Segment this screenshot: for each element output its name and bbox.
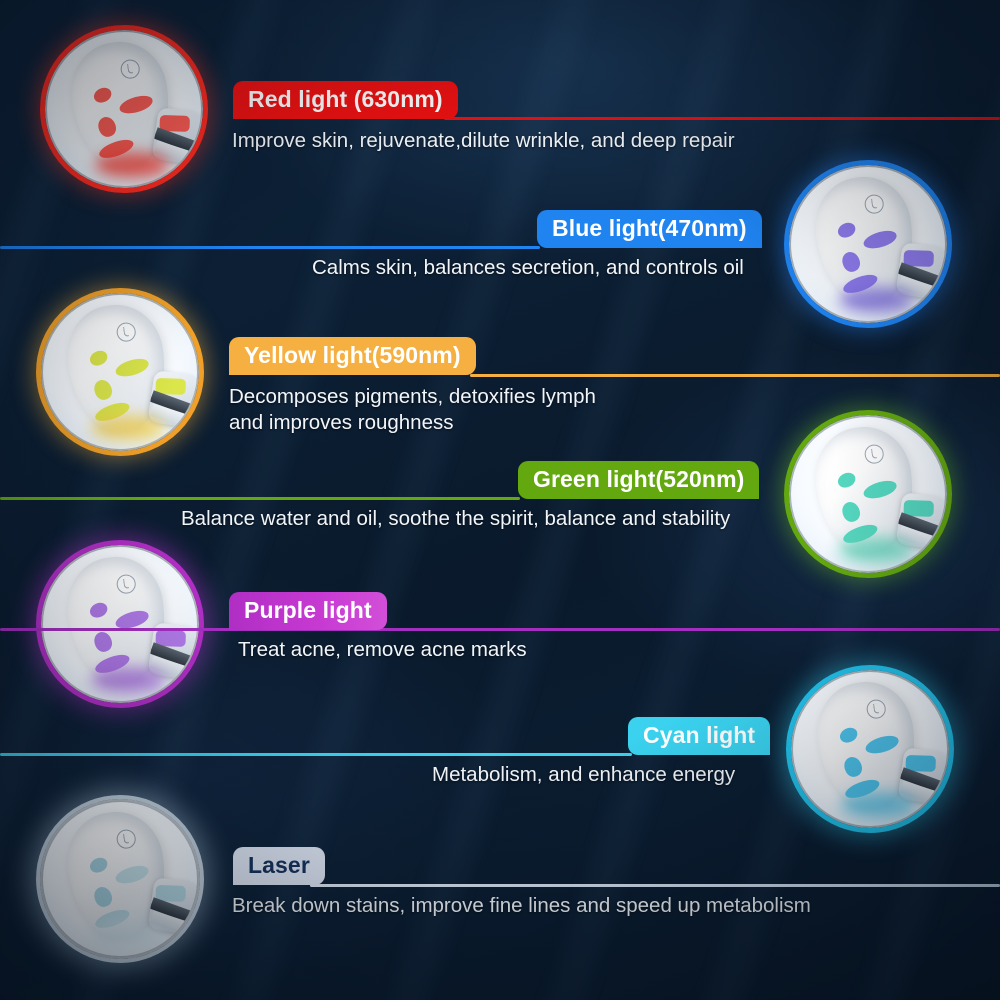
led-aperture bbox=[841, 754, 864, 779]
label-pill-yellow: Yellow light(590nm) bbox=[229, 337, 476, 375]
mask-image-blue bbox=[784, 160, 952, 328]
led-aperture bbox=[88, 600, 110, 620]
led-aperture bbox=[88, 855, 110, 875]
label-pill-blue: Blue light(470nm) bbox=[537, 210, 762, 248]
led-aperture bbox=[839, 249, 862, 274]
connector-rule-yellow bbox=[470, 374, 1000, 377]
led-aperture bbox=[862, 228, 899, 252]
led-aperture bbox=[92, 85, 114, 105]
led-aperture bbox=[862, 478, 899, 502]
connector-rule-blue bbox=[0, 246, 540, 249]
power-button-icon bbox=[864, 444, 885, 465]
led-aperture bbox=[95, 114, 118, 139]
infographic-page: Red light (630nm) Improve skin, rejuvena… bbox=[0, 0, 1000, 1000]
description-yellow: Decomposes pigments, detoxifies lymph an… bbox=[229, 384, 596, 436]
connector-rule-red bbox=[444, 117, 1000, 120]
power-button-icon bbox=[866, 699, 887, 720]
mask-image-laser bbox=[36, 795, 204, 963]
label-text-yellow: Yellow light(590nm) bbox=[244, 342, 461, 369]
led-aperture bbox=[839, 499, 862, 524]
description-green: Balance water and oil, soothe the spirit… bbox=[181, 506, 730, 532]
led-aperture bbox=[118, 93, 155, 117]
description-blue: Calms skin, balances secretion, and cont… bbox=[312, 255, 744, 281]
label-pill-laser: Laser bbox=[233, 847, 325, 885]
description-cyan: Metabolism, and enhance energy bbox=[432, 762, 735, 788]
led-aperture bbox=[91, 629, 114, 654]
connector-rule-purple bbox=[0, 628, 1000, 631]
mask-image-purple bbox=[36, 540, 204, 708]
label-pill-purple: Purple light bbox=[229, 592, 387, 630]
connector-rule-cyan bbox=[0, 753, 632, 756]
label-text-cyan: Cyan light bbox=[643, 722, 755, 749]
led-aperture bbox=[836, 470, 858, 490]
label-pill-cyan: Cyan light bbox=[628, 717, 770, 755]
mask-image-green bbox=[784, 410, 952, 578]
power-button-icon bbox=[116, 574, 137, 595]
power-button-icon bbox=[116, 829, 137, 850]
led-aperture bbox=[836, 220, 858, 240]
led-aperture bbox=[114, 863, 151, 887]
power-button-icon bbox=[120, 59, 141, 80]
connector-rule-green bbox=[0, 497, 520, 500]
label-text-laser: Laser bbox=[248, 852, 310, 879]
label-pill-red: Red light (630nm) bbox=[233, 81, 458, 119]
label-text-red: Red light (630nm) bbox=[248, 86, 443, 113]
label-text-blue: Blue light(470nm) bbox=[552, 215, 747, 242]
description-laser: Break down stains, improve fine lines an… bbox=[232, 893, 811, 919]
power-button-icon bbox=[864, 194, 885, 215]
label-text-purple: Purple light bbox=[244, 597, 372, 624]
led-aperture bbox=[91, 377, 114, 402]
led-aperture bbox=[88, 348, 110, 368]
led-aperture bbox=[864, 733, 901, 757]
label-text-green: Green light(520nm) bbox=[533, 466, 744, 493]
mask-image-red bbox=[40, 25, 208, 193]
led-aperture bbox=[838, 725, 860, 745]
led-aperture bbox=[91, 884, 114, 909]
led-aperture bbox=[114, 356, 151, 380]
description-purple: Treat acne, remove acne marks bbox=[238, 637, 527, 663]
connector-rule-laser bbox=[310, 884, 1000, 887]
label-pill-green: Green light(520nm) bbox=[518, 461, 759, 499]
description-red: Improve skin, rejuvenate,dilute wrinkle,… bbox=[232, 128, 735, 154]
mask-image-yellow bbox=[36, 288, 204, 456]
power-button-icon bbox=[116, 322, 137, 343]
mask-image-cyan bbox=[786, 665, 954, 833]
